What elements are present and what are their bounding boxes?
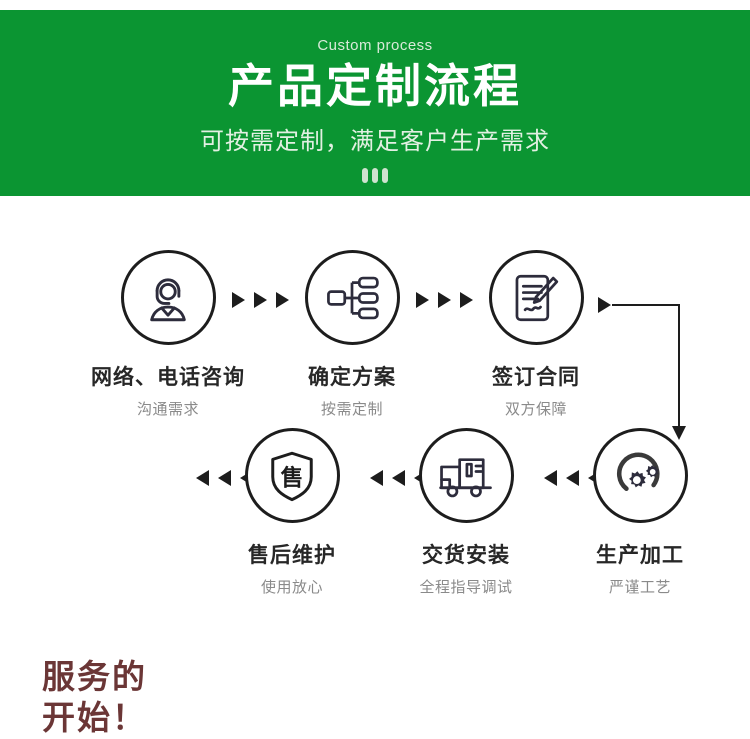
header-subtitle: 可按需定制，满足客户生产需求 — [200, 121, 550, 156]
shield-glyph: 售 — [281, 464, 304, 491]
step-circle — [593, 428, 688, 523]
org-chart-icon — [323, 269, 381, 327]
step-title: 售后维护 — [202, 539, 382, 569]
step-title: 生产加工 — [550, 539, 730, 569]
step-title: 交货安装 — [376, 539, 556, 569]
service-start-line1: 服务的 — [42, 656, 192, 697]
step-title: 网络、电话咨询 — [78, 361, 258, 391]
flow-step-delivery[interactable]: 交货安装 全程指导调试 — [376, 428, 556, 597]
process-flow: 网络、电话咨询 沟通需求 确定方案 按需定制 — [0, 196, 750, 634]
step-circle: 售 — [245, 428, 340, 523]
step-subtitle: 使用放心 — [202, 576, 382, 597]
triangle-right-icon — [232, 292, 245, 308]
triangle-right-icon — [416, 292, 429, 308]
step-subtitle: 双方保障 — [446, 398, 626, 419]
step-subtitle: 沟通需求 — [78, 398, 258, 419]
flow-step-consultation[interactable]: 网络、电话咨询 沟通需求 — [78, 250, 258, 419]
page-header: Custom process 产品定制流程 可按需定制，满足客户生产需求 — [0, 10, 750, 196]
step-circle — [121, 250, 216, 345]
triangle-right-icon — [598, 297, 611, 313]
contract-pen-icon — [507, 269, 565, 327]
service-start-label: 服务的 开始！ — [42, 656, 192, 739]
flow-step-production[interactable]: 生产加工 严谨工艺 — [550, 428, 730, 597]
step-subtitle: 严谨工艺 — [550, 576, 730, 597]
dot-2 — [372, 168, 378, 183]
step-title: 签订合同 — [446, 361, 626, 391]
gears-icon — [611, 447, 669, 505]
page-title: 产品定制流程 — [228, 60, 522, 113]
dot-1 — [362, 168, 368, 183]
flow-step-plan[interactable]: 确定方案 按需定制 — [262, 250, 442, 419]
step-subtitle: 全程指导调试 — [376, 576, 556, 597]
dot-3 — [382, 168, 388, 183]
step-circle — [305, 250, 400, 345]
flow-step-contract[interactable]: 签订合同 双方保障 — [446, 250, 626, 419]
step-circle — [489, 250, 584, 345]
step-subtitle: 按需定制 — [262, 398, 442, 419]
connector-horizontal-line — [612, 304, 680, 306]
service-start-line2: 开始！ — [42, 697, 192, 738]
delivery-truck-icon — [437, 447, 495, 505]
step-title: 确定方案 — [262, 361, 442, 391]
decorative-dots — [362, 168, 388, 183]
header-eyebrow: Custom process — [317, 37, 432, 54]
step-circle — [419, 428, 514, 523]
shield-after-sales-icon: 售 — [264, 448, 320, 504]
headset-person-icon — [139, 269, 197, 327]
connector-vertical-line — [678, 304, 680, 428]
flow-step-after-sales[interactable]: 售 售后维护 使用放心 — [202, 428, 382, 597]
